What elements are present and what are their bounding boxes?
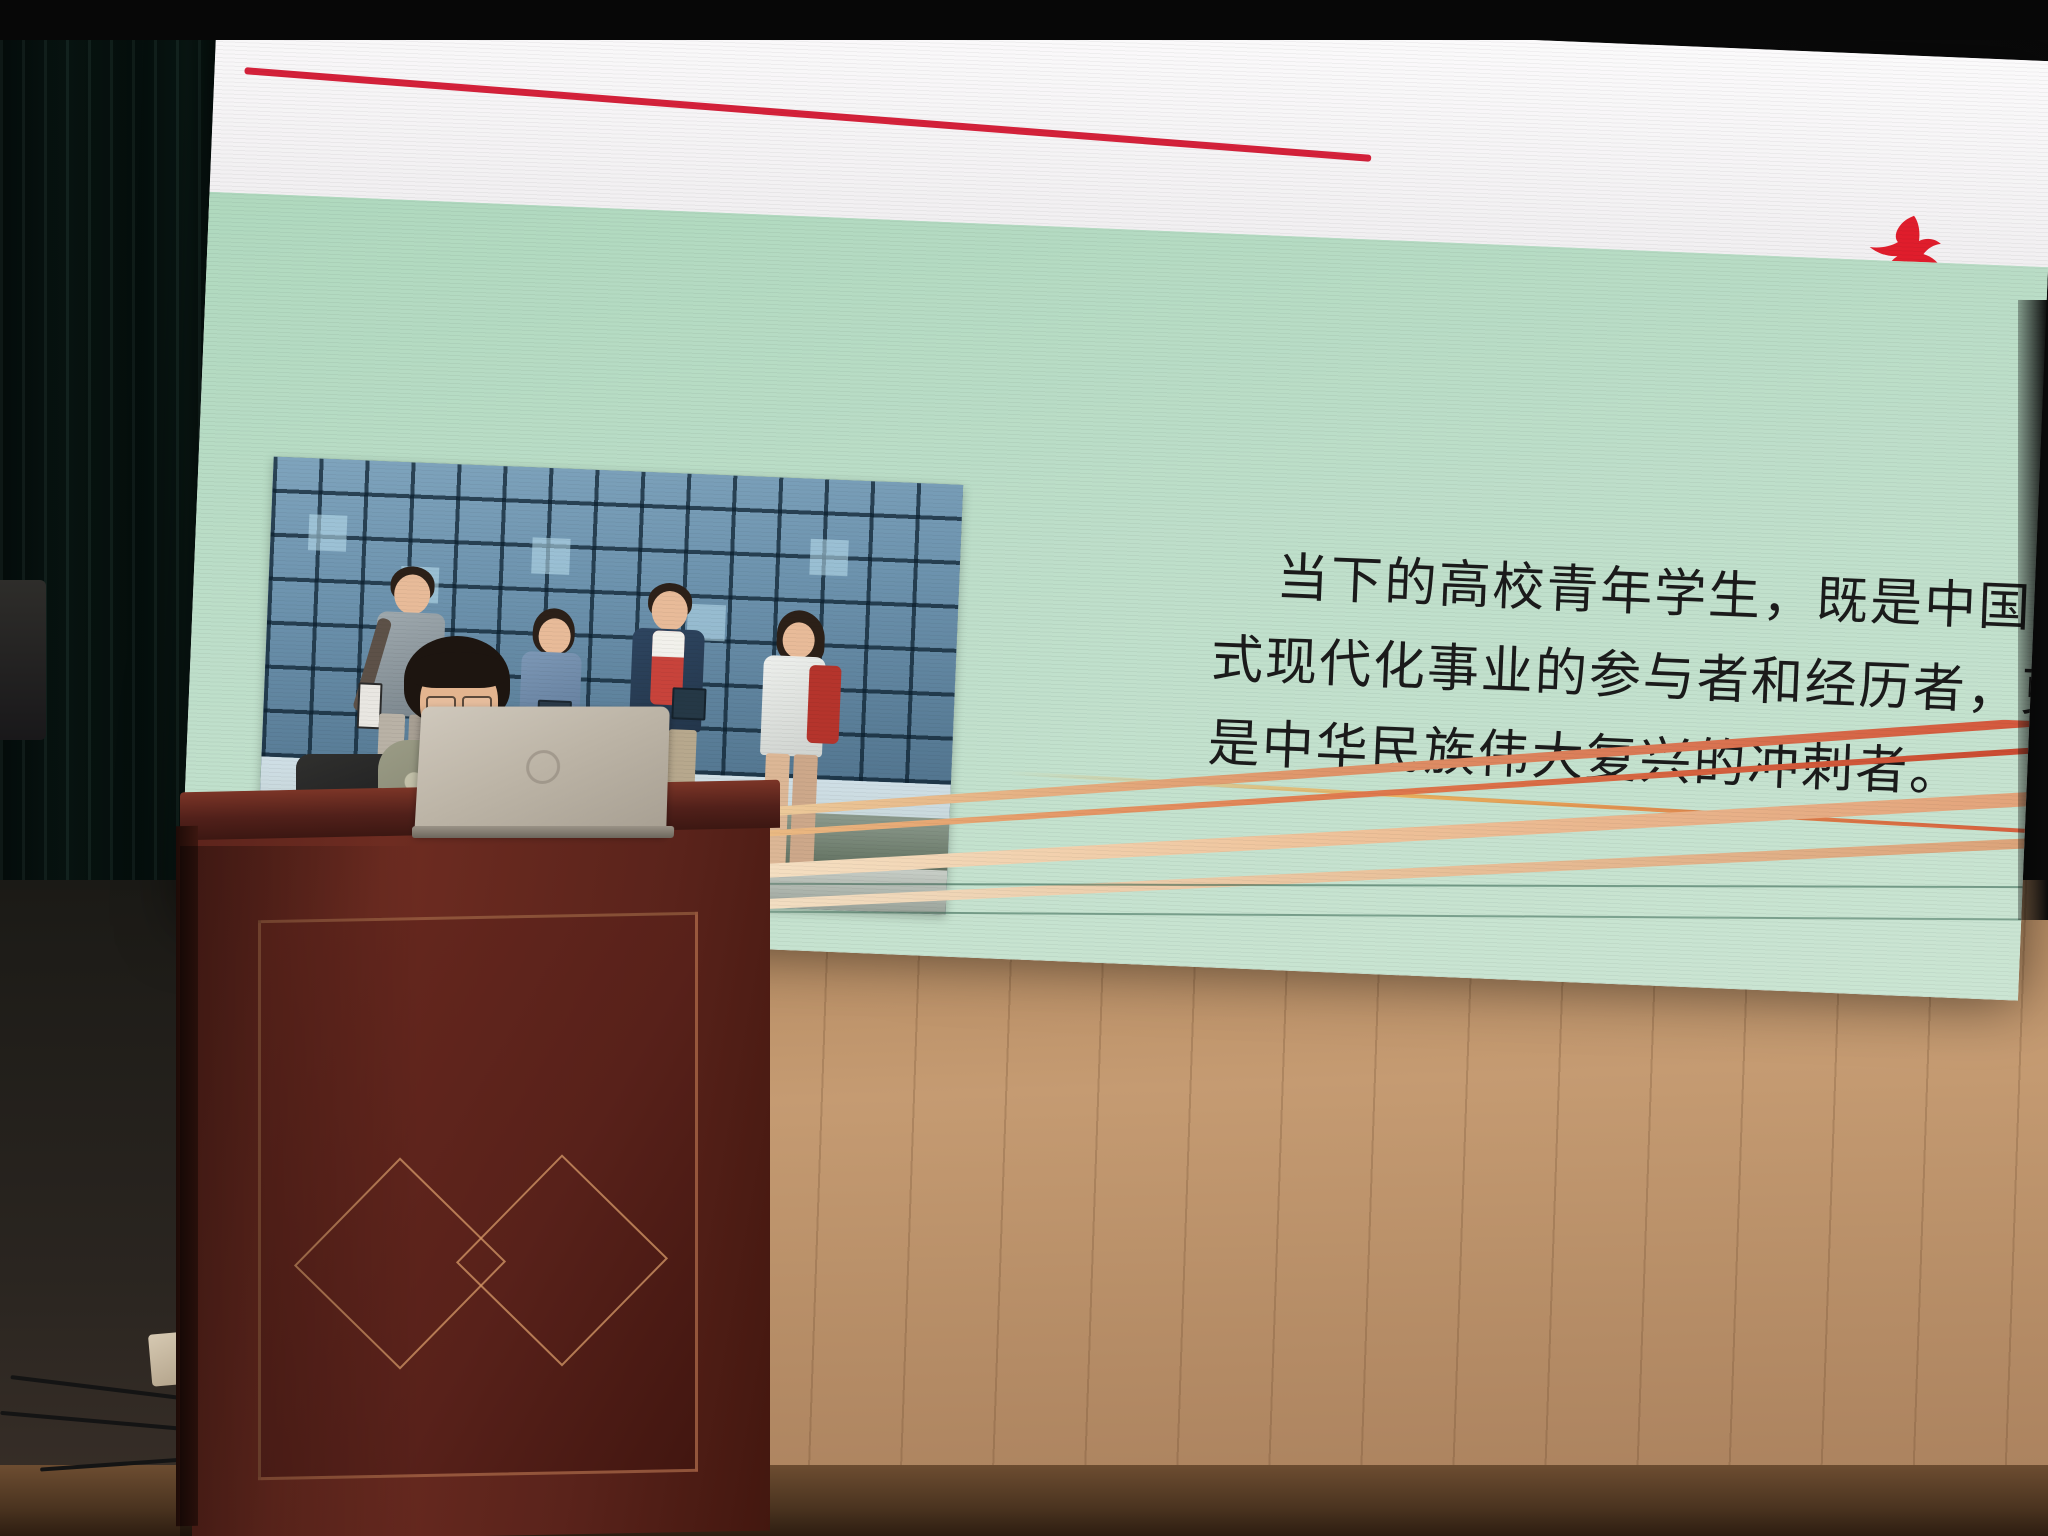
lectern-podium xyxy=(180,786,780,1536)
laptop-lid xyxy=(414,707,670,835)
photo-window-pane xyxy=(531,537,570,575)
podium-shading xyxy=(180,846,780,1536)
stage-speaker-box xyxy=(0,580,46,740)
auditorium-scene: 当下的高校青年学生，既是中国 式现代化事业的参与者和经历者，更 是中华民族伟大复… xyxy=(0,0,2048,1536)
presenter-laptop[interactable] xyxy=(418,706,668,836)
photo-window-pane xyxy=(809,539,848,577)
laptop-logo-icon xyxy=(525,750,560,784)
laptop-hinge xyxy=(412,826,675,838)
ceiling-beam xyxy=(0,0,2048,40)
right-wall-shadow xyxy=(2018,300,2048,920)
photo-window-pane xyxy=(308,514,347,552)
presenter-fringe xyxy=(410,652,506,688)
